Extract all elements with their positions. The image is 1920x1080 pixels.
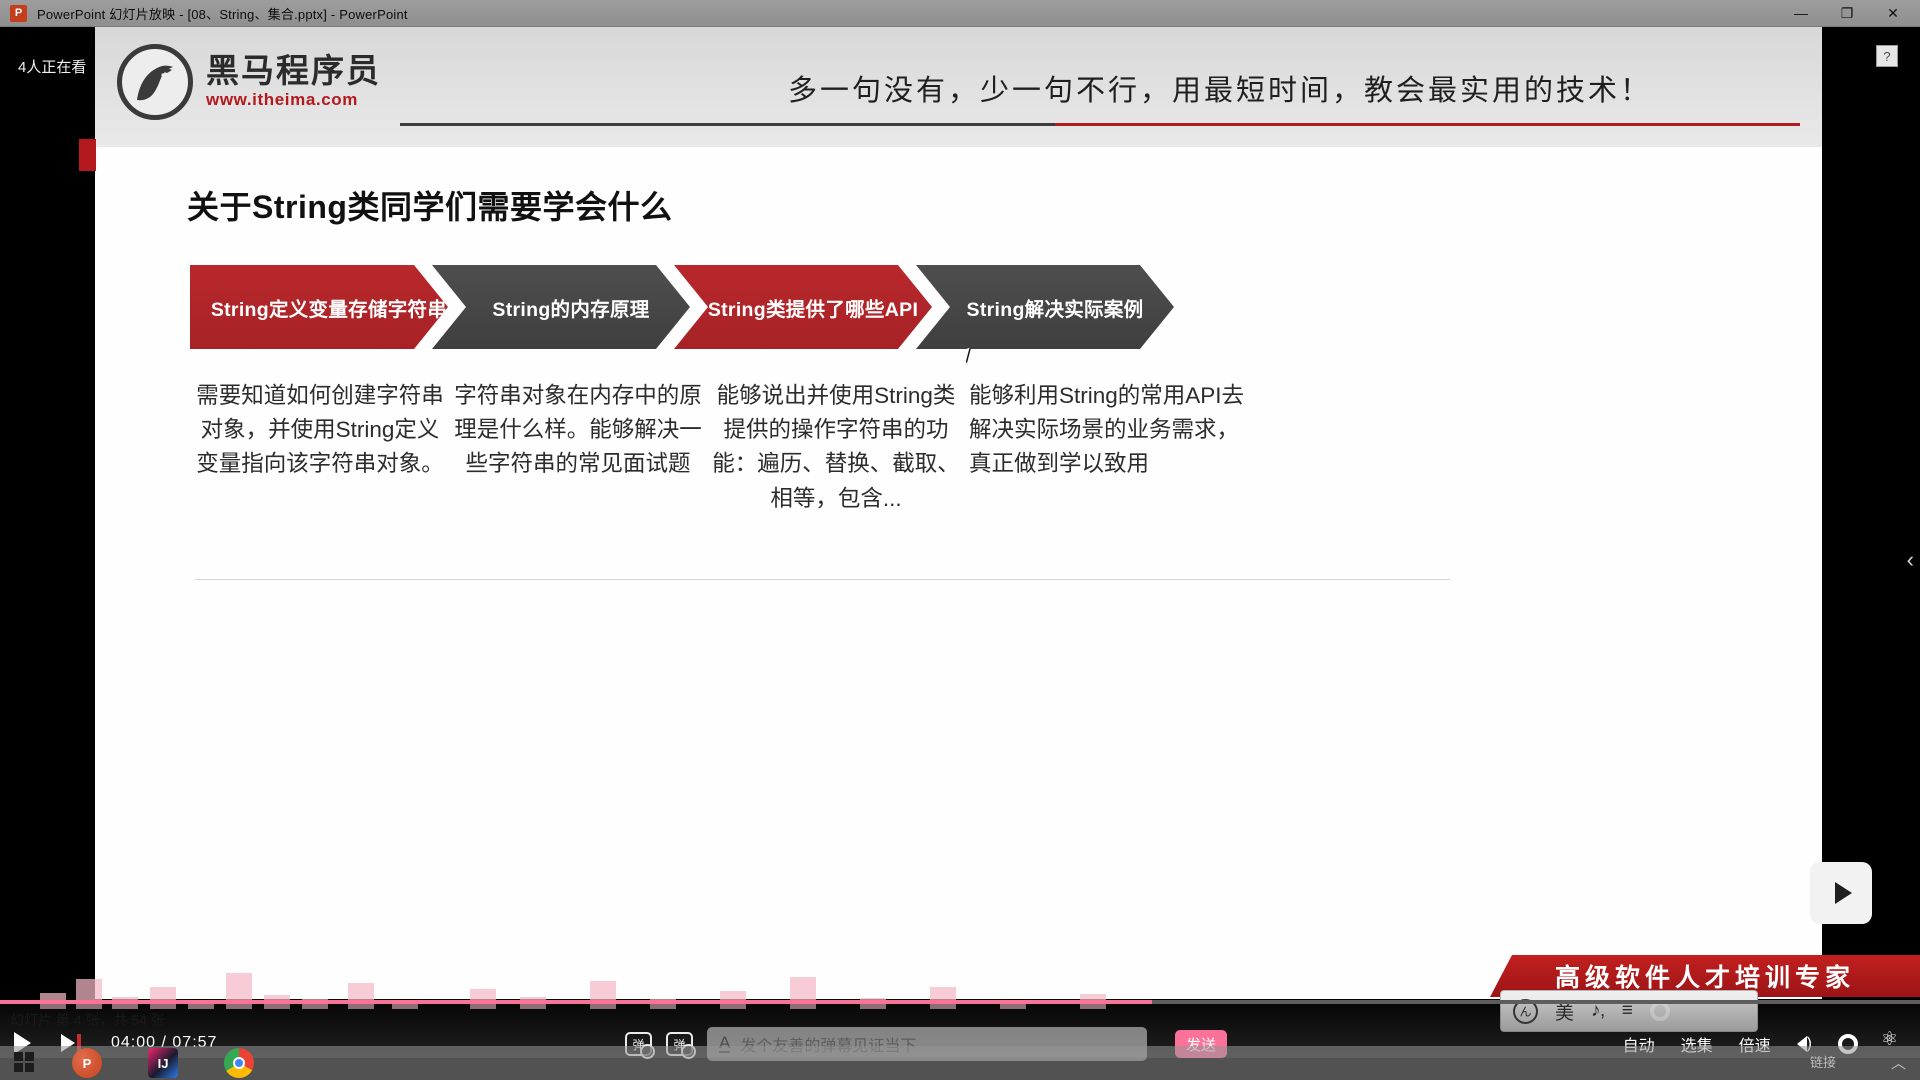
taskbar-chrome-icon[interactable] <box>224 1048 254 1078</box>
description-text: 能够说出并使用String类提供的操作字符串的功能：遍历、替换、截取、相等，包含… <box>711 379 961 516</box>
play-triangle-icon <box>1835 882 1852 904</box>
slide-counter: 幻灯片 第 4 张，共 54 张 <box>10 1010 165 1030</box>
description-text: 需要知道如何创建字符串对象，并使用String定义变量指向该字符串对象。 <box>195 379 445 482</box>
video-stage[interactable]: 黑马程序员 www.itheima.com 多一句没有，少一句不行，用最短时间，… <box>0 27 1920 1010</box>
taskbar-apps: P IJ <box>72 1048 254 1078</box>
brand-url: www.itheima.com <box>206 90 381 110</box>
chevron-label: String的内存原理 <box>432 293 690 322</box>
footer-banner-text: 高级软件人才培训专家 <box>1555 958 1855 994</box>
start-button-icon[interactable] <box>14 1052 36 1074</box>
taskbar-powerpoint-icon[interactable]: P <box>72 1048 102 1078</box>
maximize-button[interactable]: ❐ <box>1824 0 1870 27</box>
window-titlebar: P PowerPoint 幻灯片放映 - [08、String、集合.pptx]… <box>0 0 1920 27</box>
slogan-rule-accent <box>1055 123 1800 126</box>
step-chevrons: String定义变量存储字符串 String的内存原理 String类提供了哪些… <box>190 265 1158 349</box>
window-title: PowerPoint 幻灯片放映 - [08、String、集合.pptx] -… <box>37 4 408 23</box>
minimize-button[interactable]: — <box>1778 0 1824 27</box>
slide-title: 关于String类同学们需要学会什么 <box>187 182 672 228</box>
powerpoint-icon: P <box>10 5 27 22</box>
windows-taskbar <box>0 1046 1920 1080</box>
slide-slogan: 多一句没有，少一句不行，用最短时间，教会最实用的技术！ <box>655 67 1785 109</box>
description-column-1: 需要知道如何创建字符串对象，并使用String定义变量指向该字符串对象。 <box>195 379 445 516</box>
horse-head-icon <box>117 44 193 120</box>
help-icon[interactable]: ? <box>1876 45 1898 67</box>
chevron-label: String解决实际案例 <box>916 293 1174 322</box>
chevron-label: String类提供了哪些API <box>674 293 932 322</box>
description-text: 字符串对象在内存中的原理是什么样。能够解决一些字符串的常见面试题 <box>453 379 703 482</box>
chevron-step-2: String的内存原理 <box>432 265 690 349</box>
description-column-4: 能够利用String的常用API去解决实际场景的业务需求，真正做到学以致用 <box>969 379 1254 516</box>
close-button[interactable]: ✕ <box>1870 0 1916 27</box>
description-column-2: 字符串对象在内存中的原理是什么样。能够解决一些字符串的常见面试题 <box>453 379 703 516</box>
brand-logo: 黑马程序员 www.itheima.com <box>117 44 381 120</box>
chevron-label: String定义变量存储字符串 <box>190 293 448 322</box>
description-text: 能够利用String的常用API去解决实际场景的业务需求，真正做到学以致用 <box>969 379 1254 482</box>
step-descriptions: 需要知道如何创建字符串对象，并使用String定义变量指向该字符串对象。 字符串… <box>195 379 1475 516</box>
chevron-left-icon[interactable]: ‹ <box>1907 547 1914 573</box>
chevron-step-4: String解决实际案例 <box>916 265 1174 349</box>
window-controls: — ❐ ✕ <box>1778 0 1920 27</box>
chevron-step-1: String定义变量存储字符串 <box>190 265 448 349</box>
slide-accent-tab <box>79 139 96 171</box>
slide-canvas: 黑马程序员 www.itheima.com 多一句没有，少一句不行，用最短时间，… <box>95 27 1822 999</box>
viewer-count: 4人正在看 <box>18 56 86 77</box>
brand-name: 黑马程序员 <box>206 54 381 89</box>
picture-in-picture-button[interactable] <box>1810 862 1872 924</box>
description-column-3: 能够说出并使用String类提供的操作字符串的功能：遍历、替换、截取、相等，包含… <box>711 379 961 516</box>
chevron-step-3: String类提供了哪些API <box>674 265 932 349</box>
screen: P PowerPoint 幻灯片放映 - [08、String、集合.pptx]… <box>0 0 1920 1080</box>
slide-header: 黑马程序员 www.itheima.com 多一句没有，少一句不行，用最短时间，… <box>95 27 1822 147</box>
taskbar-intellij-icon[interactable]: IJ <box>148 1048 178 1078</box>
content-divider <box>195 579 1450 580</box>
